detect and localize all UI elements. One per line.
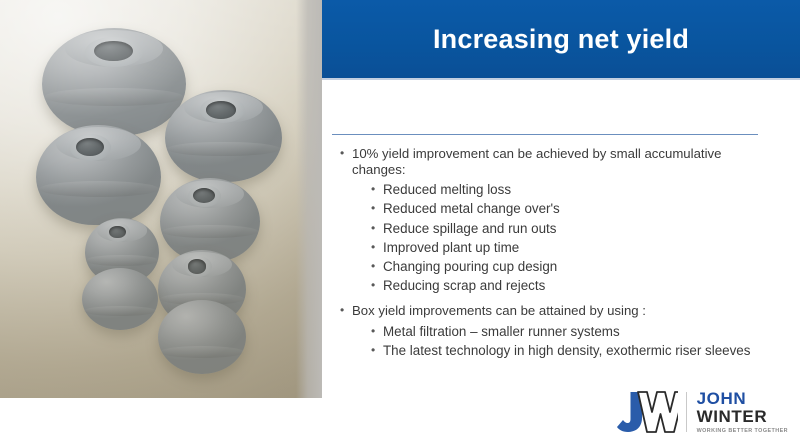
bullet-marker: • (371, 199, 383, 218)
bullet-marker: • (371, 257, 383, 276)
bullet-level1: • Box yield improvements can be attained… (322, 303, 794, 319)
bullet-level2: • Changing pouring cup design (322, 257, 794, 276)
bullet-marker: • (371, 180, 383, 199)
bullet-marker: • (340, 303, 352, 319)
bullet-level2: • The latest technology in high density,… (322, 341, 794, 360)
bullet-text: Reducing scrap and rejects (383, 276, 794, 295)
bullet-level1: • 10% yield improvement can be achieved … (322, 146, 794, 177)
logo-divider (686, 392, 687, 432)
logo-winter-text: WINTER (697, 408, 788, 425)
bullet-text: 10% yield improvement can be achieved by… (352, 146, 756, 177)
photo-shading (0, 0, 322, 398)
title-banner: Increasing net yield (322, 0, 800, 78)
bullet-marker: • (371, 322, 383, 341)
logo-wordmark: JOHN WINTER WORKING BETTER TOGETHER (697, 390, 788, 434)
product-photo (0, 0, 322, 398)
bullet-level2: • Reduce spillage and run outs (322, 219, 794, 238)
slide: Increasing net yield • 10% yield improve… (0, 0, 800, 447)
bullet-text: Reduced metal change over's (383, 199, 794, 218)
bullet-level2: • Metal filtration – smaller runner syst… (322, 322, 794, 341)
bullet-text: Reduced melting loss (383, 180, 794, 199)
bullet-marker: • (371, 238, 383, 257)
bullet-text: Changing pouring cup design (383, 257, 794, 276)
bullet-level2: • Reduced metal change over's (322, 199, 794, 218)
bullet-marker: • (371, 219, 383, 238)
bullet-text: Improved plant up time (383, 238, 794, 257)
bullet-text: Metal filtration – smaller runner system… (383, 322, 794, 341)
bullet-marker: • (371, 276, 383, 295)
bullet-text: Reduce spillage and run outs (383, 219, 794, 238)
bullet-level2: • Reduced melting loss (322, 180, 794, 199)
logo-john-text: JOHN (697, 390, 788, 407)
logo-tagline: WORKING BETTER TOGETHER (697, 429, 788, 434)
content-divider-rule (332, 134, 758, 135)
bullet-marker: • (371, 341, 383, 360)
bullet-text: The latest technology in high density, e… (383, 341, 794, 360)
bullet-text: Box yield improvements can be attained b… (352, 303, 756, 319)
bullet-list: • 10% yield improvement can be achieved … (322, 146, 794, 360)
company-logo: JOHN WINTER WORKING BETTER TOGETHER (616, 385, 788, 439)
jw-monogram-icon (616, 388, 678, 436)
bullet-level2: • Reducing scrap and rejects (322, 276, 794, 295)
photo-right-edge (296, 0, 322, 398)
page-title: Increasing net yield (433, 26, 689, 53)
bullet-marker: • (340, 146, 352, 162)
bullet-level2: • Improved plant up time (322, 238, 794, 257)
bullet-group-spacer (322, 295, 794, 303)
